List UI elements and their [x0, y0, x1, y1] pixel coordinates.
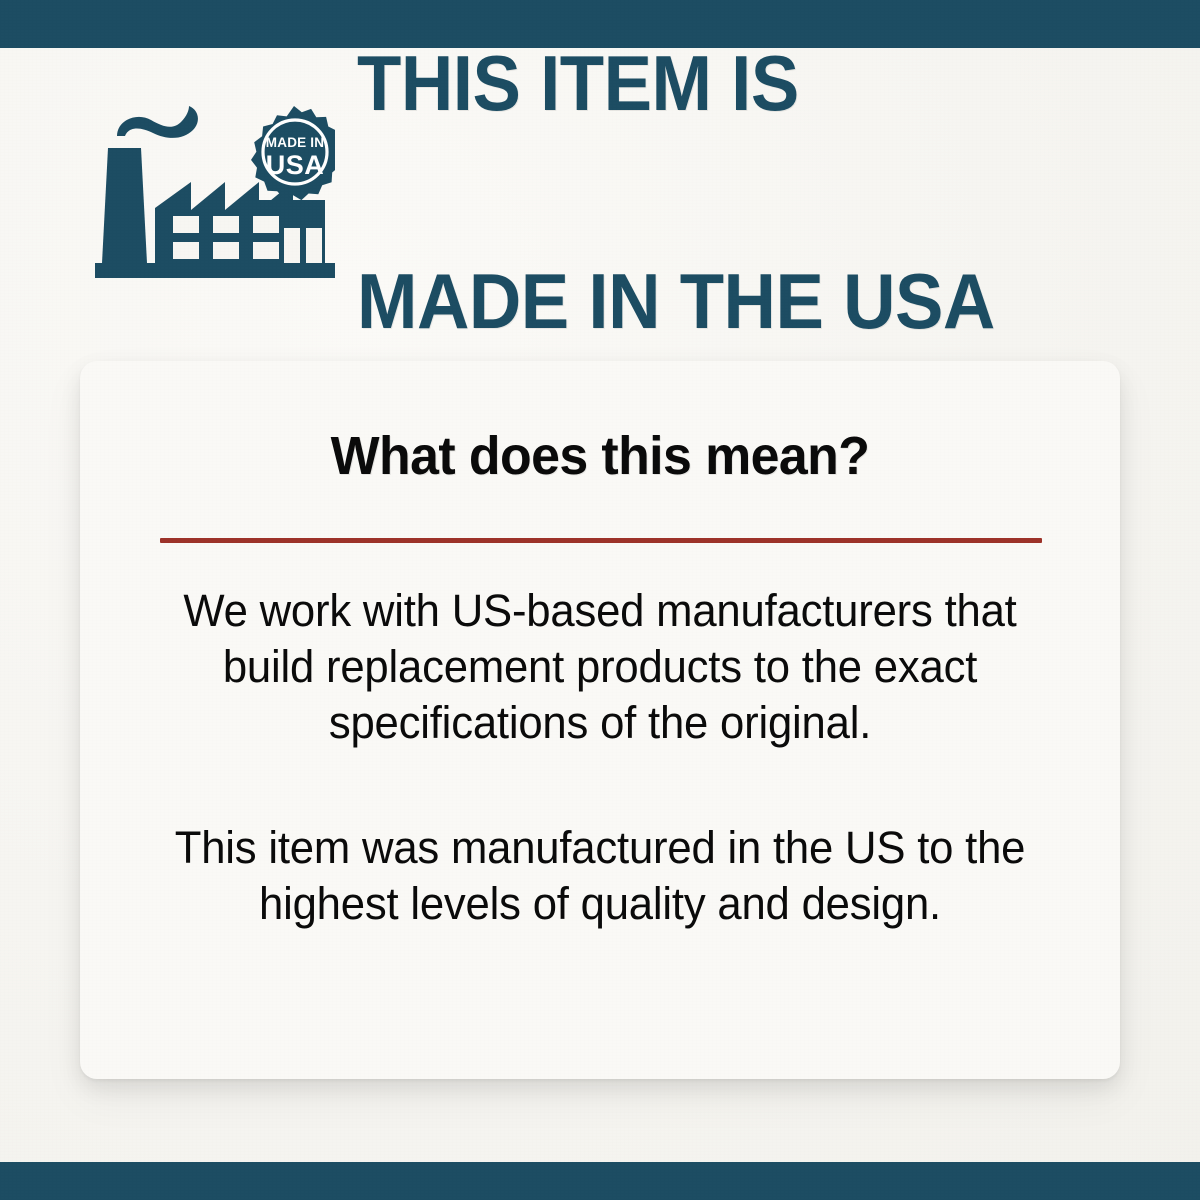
bottom-accent-band — [0, 1162, 1200, 1200]
headline-line-2: MADE IN THE USA — [357, 265, 995, 338]
header: MADE IN USA THIS ITEM IS MADE IN THE USA — [95, 92, 1155, 292]
made-in-usa-infographic: MADE IN USA THIS ITEM IS MADE IN THE USA… — [0, 0, 1200, 1200]
made-in-usa-badge-icon: MADE IN USA — [251, 106, 335, 200]
badge-made-in-label: MADE IN — [266, 135, 324, 150]
heading-divider — [160, 538, 1042, 543]
card-heading: What does this mean? — [101, 425, 1099, 487]
body-paragraph-2: This item was manufactured in the US to … — [132, 820, 1067, 932]
card-body: We work with US-based manufacturers that… — [118, 583, 1082, 932]
factory-icon: MADE IN USA — [95, 100, 335, 285]
body-paragraph-1: We work with US-based manufacturers that… — [132, 583, 1067, 750]
headline-line-1: THIS ITEM IS — [357, 47, 995, 120]
badge-usa-label: USA — [266, 150, 325, 180]
explanation-card: What does this mean? We work with US-bas… — [80, 361, 1120, 1079]
